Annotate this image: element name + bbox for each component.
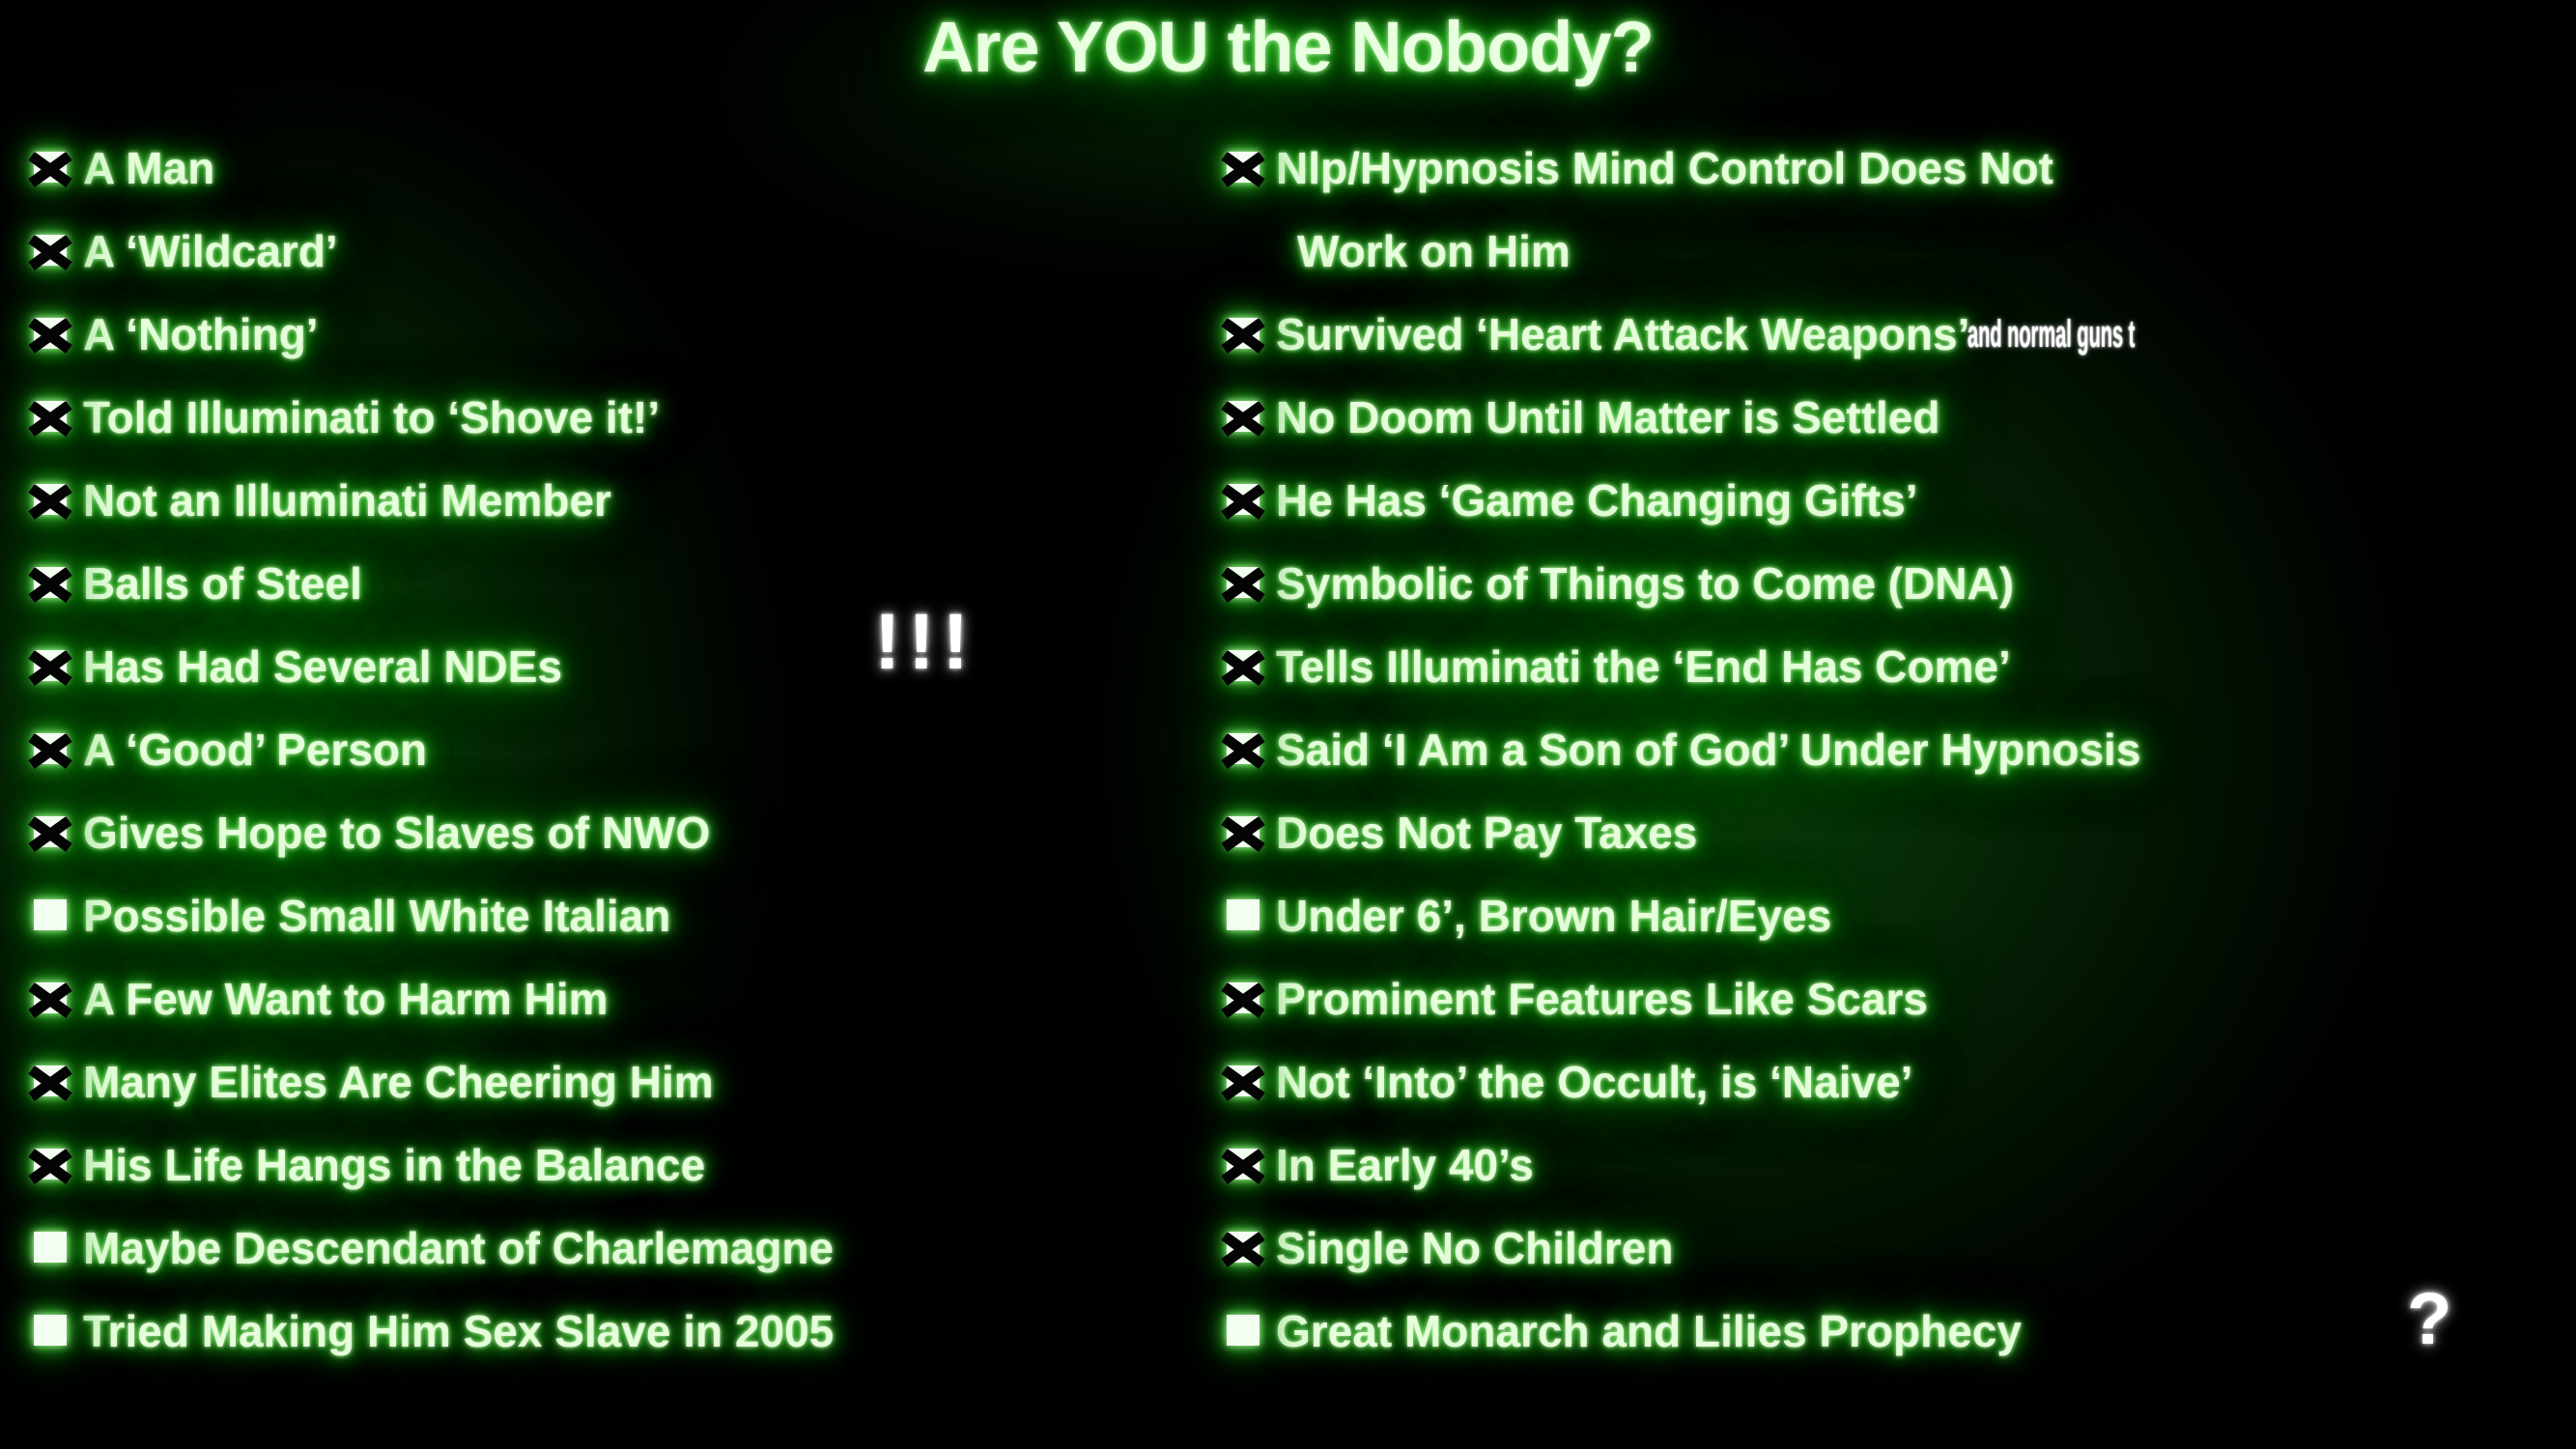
right-checklist-column: Nlp/Hypnosis Mind Control Does NotWork o…: [1222, 135, 2576, 1381]
checklist-row[interactable]: His Life Hangs in the Balance: [29, 1132, 1217, 1215]
page-title: Are YOU the Nobody?: [922, 6, 1654, 88]
empty-checkbox-icon[interactable]: [1222, 895, 1264, 936]
question-mark-annotation: ?: [2407, 1277, 2451, 1361]
checklist-item-label: Not ‘Into’ the Occult, is ‘Naive’: [1276, 1049, 1912, 1115]
checklist-item-label: A ‘Wildcard’: [83, 218, 338, 284]
checked-checkbox-icon[interactable]: [1222, 148, 1264, 188]
checklist-row[interactable]: No Doom Until Matter is Settled: [1222, 384, 2576, 468]
checklist-item-label: Work on Him: [1297, 218, 1571, 284]
checklist-item-label: Not an Illuminati Member: [83, 468, 611, 533]
checked-checkbox-icon[interactable]: [1222, 979, 1264, 1019]
checked-checkbox-icon[interactable]: [1222, 1062, 1264, 1102]
checklist-row[interactable]: Maybe Descendant of Charlemagne: [29, 1215, 1217, 1298]
checked-checkbox-icon[interactable]: [29, 812, 71, 853]
checklist-item-label: A Man: [83, 135, 214, 201]
checked-checkbox-icon[interactable]: [1222, 729, 1264, 770]
checked-checkbox-icon[interactable]: [1222, 1145, 1264, 1185]
checklist-row[interactable]: A ‘Wildcard’: [29, 218, 1217, 301]
checklist-item-label: A ‘Good’ Person: [83, 717, 427, 782]
checked-checkbox-icon[interactable]: [29, 1145, 71, 1185]
checklist-row[interactable]: Said ‘I Am a Son of God’ Under Hypnosis: [1222, 717, 2576, 800]
checked-checkbox-icon[interactable]: [1222, 812, 1264, 853]
checklist-row[interactable]: Balls of Steel: [29, 551, 1217, 634]
checklist-item-label: Tells Illuminati the ‘End Has Come’: [1276, 634, 2011, 699]
checkbox-box: [1227, 1315, 1260, 1346]
checked-checkbox-icon[interactable]: [29, 563, 71, 604]
checked-checkbox-icon[interactable]: [29, 979, 71, 1019]
checked-checkbox-icon[interactable]: [29, 646, 71, 687]
checklist-row[interactable]: Many Elites Are Cheering Him: [29, 1049, 1217, 1132]
checklist-row[interactable]: Work on Him: [1222, 218, 2576, 301]
overflow-annotation-text: and normal guns t: [1967, 301, 2135, 367]
checklist-item-label: Single No Children: [1276, 1215, 1673, 1281]
checklist-row[interactable]: Survived ‘Heart Attack Weapons’and norma…: [1222, 301, 2576, 384]
empty-checkbox-icon[interactable]: [1222, 1311, 1264, 1351]
checklist-row[interactable]: Tried Making Him Sex Slave in 2005: [29, 1298, 1217, 1381]
checklist-row[interactable]: Gives Hope to Slaves of NWO: [29, 800, 1217, 883]
checklist-row[interactable]: Tells Illuminati the ‘End Has Come’: [1222, 634, 2576, 717]
checklist-item-label: Great Monarch and Lilies Prophecy: [1276, 1298, 2022, 1364]
checkbox-box: [34, 1232, 67, 1263]
checklist-item-label: His Life Hangs in the Balance: [83, 1132, 705, 1198]
checklist-item-label: He Has ‘Game Changing Gifts’: [1276, 468, 1918, 533]
checklist-row[interactable]: Under 6’, Brown Hair/Eyes: [1222, 883, 2576, 966]
checklist-row[interactable]: A Few Want to Harm Him: [29, 966, 1217, 1049]
checklist-row[interactable]: Told Illuminati to ‘Shove it!’: [29, 384, 1217, 468]
left-checklist-column: A ManA ‘Wildcard’A ‘Nothing’Told Illumin…: [29, 135, 1217, 1381]
checked-checkbox-icon[interactable]: [1222, 480, 1264, 521]
checklist-item-label: Prominent Features Like Scars: [1276, 966, 1928, 1032]
checklist-item-label: Nlp/Hypnosis Mind Control Does Not: [1276, 135, 2053, 201]
checklist-item-label: Possible Small White Italian: [83, 883, 670, 949]
checklist-row[interactable]: Nlp/Hypnosis Mind Control Does Not: [1222, 135, 2576, 218]
checkbox-box: [1227, 899, 1260, 930]
checklist-item-label: Told Illuminati to ‘Shove it!’: [83, 384, 660, 450]
checked-checkbox-icon[interactable]: [1222, 397, 1264, 438]
empty-checkbox-icon[interactable]: [29, 1311, 71, 1351]
checked-checkbox-icon[interactable]: [29, 397, 71, 438]
checked-checkbox-icon[interactable]: [1222, 314, 1264, 355]
checklist-row[interactable]: Does Not Pay Taxes: [1222, 800, 2576, 883]
checklist-item-label: Tried Making Him Sex Slave in 2005: [83, 1298, 834, 1364]
checklist-row[interactable]: In Early 40’s: [1222, 1132, 2576, 1215]
checklist-item-label: A ‘Nothing’: [83, 301, 319, 367]
checked-checkbox-icon[interactable]: [1222, 563, 1264, 604]
poster-canvas: Are YOU the Nobody? A ManA ‘Wildcard’A ‘…: [0, 0, 2576, 1449]
checkbox-box: [34, 1315, 67, 1346]
checked-checkbox-icon[interactable]: [29, 729, 71, 770]
checklist-row[interactable]: Possible Small White Italian: [29, 883, 1217, 966]
title-bar: Are YOU the Nobody?: [0, 6, 2576, 88]
checklist-item-label: Survived ‘Heart Attack Weapons’: [1276, 301, 1969, 367]
checklist-row[interactable]: Has Had Several NDEs: [29, 634, 1217, 717]
checklist-row[interactable]: Single No Children: [1222, 1215, 2576, 1298]
empty-checkbox-icon[interactable]: [29, 1228, 71, 1268]
checked-checkbox-icon[interactable]: [29, 1062, 71, 1102]
checked-checkbox-icon[interactable]: [29, 231, 71, 271]
checklist-item-label: A Few Want to Harm Him: [83, 966, 609, 1032]
checklist-item-label: Under 6’, Brown Hair/Eyes: [1276, 883, 1831, 949]
checklist-row[interactable]: Not an Illuminati Member: [29, 468, 1217, 551]
checklist-row[interactable]: He Has ‘Game Changing Gifts’: [1222, 468, 2576, 551]
checklist-item-label: Gives Hope to Slaves of NWO: [83, 800, 710, 866]
checked-checkbox-icon[interactable]: [29, 148, 71, 188]
checklist-row[interactable]: Not ‘Into’ the Occult, is ‘Naive’: [1222, 1049, 2576, 1132]
checklist-item-label: Maybe Descendant of Charlemagne: [83, 1215, 834, 1281]
checklist-row[interactable]: Great Monarch and Lilies Prophecy: [1222, 1298, 2576, 1381]
checked-checkbox-icon[interactable]: [1222, 1228, 1264, 1268]
checklist-item-label: Many Elites Are Cheering Him: [83, 1049, 714, 1115]
checklist-item-label: Said ‘I Am a Son of God’ Under Hypnosis: [1276, 717, 2140, 782]
checklist-item-label: No Doom Until Matter is Settled: [1276, 384, 1939, 450]
checklist-item-label: Has Had Several NDEs: [83, 634, 562, 699]
checklist-item-label: Does Not Pay Taxes: [1276, 800, 1697, 866]
checklist-item-label: In Early 40’s: [1276, 1132, 1534, 1198]
checklist-row[interactable]: Symbolic of Things to Come (DNA): [1222, 551, 2576, 634]
checklist-item-label: Symbolic of Things to Come (DNA): [1276, 551, 2014, 616]
exclamation-mark-annotation: !!!: [874, 597, 977, 688]
checklist-row[interactable]: A Man: [29, 135, 1217, 218]
checked-checkbox-icon[interactable]: [1222, 646, 1264, 687]
checklist-row[interactable]: A ‘Nothing’: [29, 301, 1217, 384]
checklist-row[interactable]: A ‘Good’ Person: [29, 717, 1217, 800]
checked-checkbox-icon[interactable]: [29, 314, 71, 355]
checked-checkbox-icon[interactable]: [29, 480, 71, 521]
empty-checkbox-icon[interactable]: [29, 895, 71, 936]
checklist-item-label: Balls of Steel: [83, 551, 362, 616]
checklist-row[interactable]: Prominent Features Like Scars: [1222, 966, 2576, 1049]
checkbox-box: [34, 899, 67, 930]
